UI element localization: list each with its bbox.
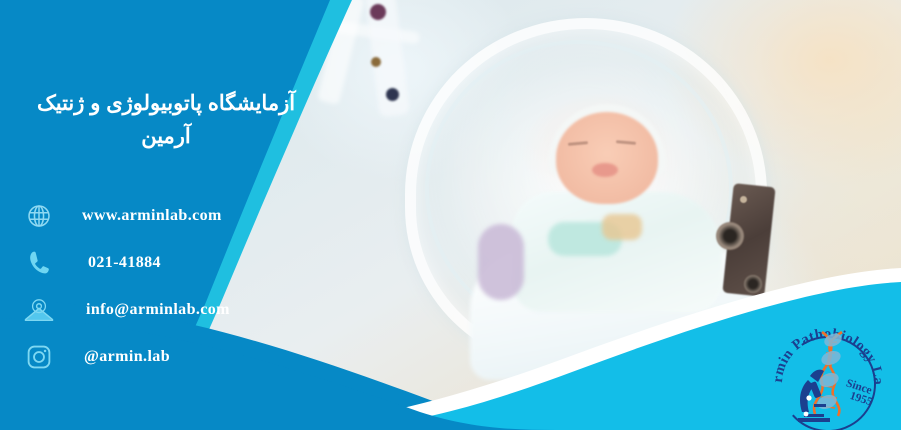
contact-item-instagram[interactable]: @armin.lab xyxy=(22,333,322,380)
page-title-line-2: آرمین xyxy=(10,121,322,154)
contact-list: www.arminlab.com 021-41884 xyxy=(22,192,322,380)
envelope-icon xyxy=(22,293,56,327)
globe-icon xyxy=(22,199,56,233)
brand-content: آزمایشگاه پاتوبیولوژی و ژنتیک آرمین www.… xyxy=(0,0,330,430)
contact-website-label: www.arminlab.com xyxy=(66,207,222,225)
contact-item-phone[interactable]: 021-41884 xyxy=(22,239,322,286)
clinic-banner: آزمایشگاه پاتوبیولوژی و ژنتیک آرمین www.… xyxy=(0,0,901,430)
armin-lab-logo[interactable]: Armin Pathobiology Lab Since 1955 xyxy=(768,318,888,430)
phone-icon xyxy=(22,246,56,280)
contact-item-email[interactable]: info@arminlab.com xyxy=(22,286,322,333)
page-title: آزمایشگاه پاتوبیولوژی و ژنتیک آرمین xyxy=(10,88,322,153)
contact-phone-label: 021-41884 xyxy=(66,254,161,272)
instagram-icon xyxy=(22,340,56,374)
page-title-line-1: آزمایشگاه پاتوبیولوژی و ژنتیک xyxy=(10,88,322,121)
contact-instagram-label: @armin.lab xyxy=(66,348,170,366)
contact-email-label: info@arminlab.com xyxy=(66,301,230,319)
contact-item-website[interactable]: www.arminlab.com xyxy=(22,192,322,239)
